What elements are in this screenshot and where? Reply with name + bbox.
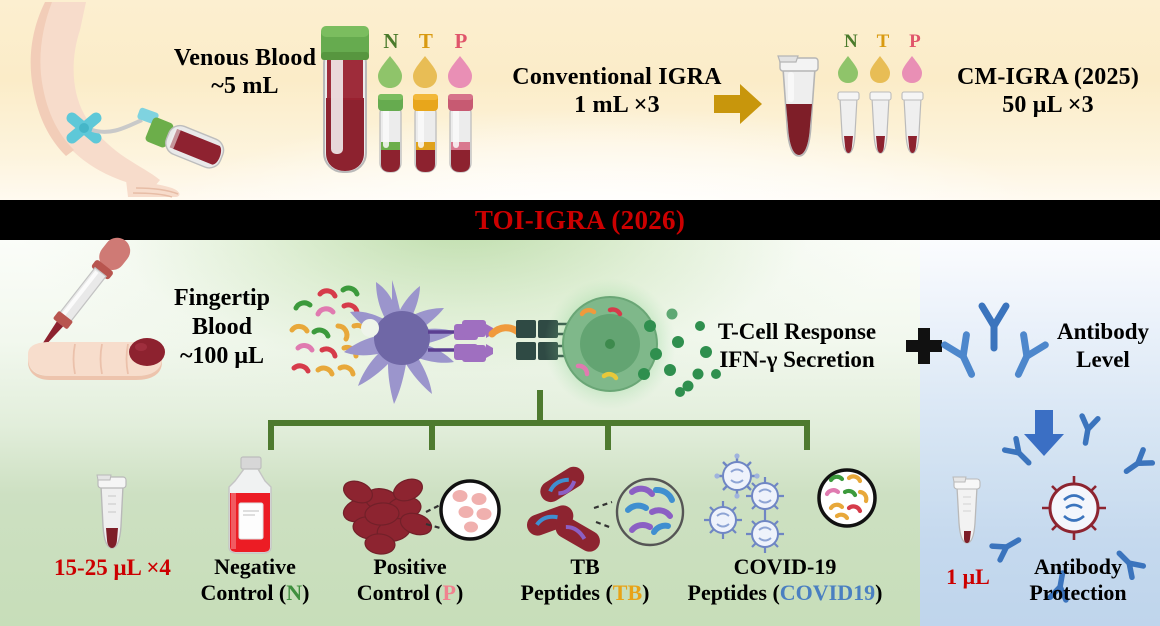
micro-eppendorf-1ul-icon — [952, 475, 982, 547]
virus-2 — [704, 501, 742, 539]
cm-igra-line1: CM-IGRA (2025) — [940, 63, 1156, 91]
conventional-igra-line2: 1 mL ×3 — [492, 91, 742, 119]
red-blood-cell-cluster-icon — [330, 466, 500, 556]
micro-eppendorf-ntp-icon — [836, 54, 934, 164]
antibody-level-line2: Level — [1046, 346, 1160, 374]
covid-peptides-suffix: ) — [875, 580, 882, 605]
covid-peptides-label: COVID-19 Peptides (COVID19) — [680, 554, 890, 607]
negative-control-line1: Negative — [190, 554, 320, 580]
tb-peptides-tag: TB — [613, 580, 642, 605]
top-panel: Venous Blood ~5 mL N T P — [0, 0, 1160, 200]
antibody-y-icon — [942, 302, 1052, 382]
bracket-crossbar — [268, 420, 810, 426]
antibody-level-line1: Antibody — [1046, 318, 1160, 346]
culture-media-bottle-icon — [215, 455, 285, 555]
antibody-protection-label: Antibody Protection — [1018, 554, 1138, 607]
negative-control-suffix: ) — [302, 580, 309, 605]
process-arrow-icon — [712, 82, 764, 126]
cm-igra-label: CM-IGRA (2025) 50 μL ×3 — [940, 63, 1156, 120]
positive-control-suffix: ) — [456, 580, 463, 605]
positive-control-label: Positive Control (P) — [345, 554, 475, 607]
figure-canvas: Venous Blood ~5 mL N T P — [0, 0, 1160, 626]
sample-volume-label: 15-25 μL ×4 — [30, 554, 195, 582]
cm-tube-letter-t: T — [872, 31, 894, 53]
tube-letter-t: T — [413, 29, 439, 54]
negative-control-tag: N — [286, 580, 302, 605]
fingertip-line2: Blood — [132, 313, 312, 342]
negative-control-line2: Control (N) — [190, 580, 320, 606]
fingertip-line3: ~100 μL — [132, 342, 312, 371]
positive-control-line2: Control (P) — [345, 580, 475, 606]
covid-peptides-tag: COVID19 — [780, 580, 875, 605]
tb-peptides-prefix: Peptides ( — [521, 580, 613, 605]
antibody-level-label: Antibody Level — [1046, 318, 1160, 373]
eppendorf-tube-icon — [776, 52, 822, 162]
virus-3 — [746, 515, 784, 553]
fingertip-line1: Fingertip — [132, 284, 312, 313]
bracket-drop-2 — [429, 420, 435, 450]
virus-particle-icon — [705, 456, 875, 560]
bracket-stem — [537, 390, 543, 422]
tb-peptides-suffix: ) — [642, 580, 649, 605]
virus-4 — [746, 477, 784, 515]
figure-title: TOI-IGRA (2026) — [0, 200, 1160, 240]
fingertip-blood-label: Fingertip Blood ~100 μL — [132, 284, 312, 370]
plus-icon — [904, 326, 944, 366]
covid-peptides-line2: Peptides (COVID19) — [680, 580, 890, 606]
tube-letter-n: N — [378, 29, 404, 54]
conventional-igra-line1: Conventional IGRA — [492, 63, 742, 91]
positive-control-prefix: Control ( — [357, 580, 443, 605]
positive-control-line1: Positive — [345, 554, 475, 580]
tcell-line2: IFN-γ Secretion — [690, 346, 904, 374]
down-arrow-icon — [1022, 408, 1066, 458]
tb-peptides-line1: TB — [510, 554, 660, 580]
covid-peptides-prefix: Peptides ( — [688, 580, 780, 605]
conventional-igra-label: Conventional IGRA 1 mL ×3 — [492, 63, 742, 120]
antibody-protection-line2: Protection — [1018, 580, 1138, 606]
cm-igra-line2: 50 μL ×3 — [940, 91, 1156, 119]
lower-panel: Fingertip Blood ~100 μL — [0, 240, 1160, 626]
blood-collection-tube-icon — [314, 22, 376, 177]
micro-eppendorf-icon — [95, 472, 129, 554]
tube-letter-p: P — [448, 29, 474, 54]
tcell-line1: T-Cell Response — [690, 318, 904, 346]
bacteria-rod-icon — [520, 462, 695, 558]
tcell-response-label: T-Cell Response IFN-γ Secretion — [690, 318, 904, 373]
reagent-tubes-ntp-icon — [376, 54, 480, 176]
cm-tube-letter-n: N — [840, 31, 862, 53]
positive-control-tag: P — [442, 580, 455, 605]
bracket-drop-3 — [605, 420, 611, 450]
cm-tube-letter-p: P — [904, 31, 926, 53]
tb-peptides-label: TB Peptides (TB) — [510, 554, 660, 607]
bracket-drop-4 — [804, 420, 810, 450]
antibody-bound-virus-icon — [1024, 462, 1124, 554]
bracket-drop-1 — [268, 420, 274, 450]
negative-control-prefix: Control ( — [201, 580, 287, 605]
antibody-protection-line1: Antibody — [1018, 554, 1138, 580]
covid-peptides-line1: COVID-19 — [680, 554, 890, 580]
dendritic-cell-icon — [340, 276, 480, 408]
tb-peptides-line2: Peptides (TB) — [510, 580, 660, 606]
antibody-volume-label: 1 μL — [928, 564, 1008, 590]
negative-control-label: Negative Control (N) — [190, 554, 320, 607]
